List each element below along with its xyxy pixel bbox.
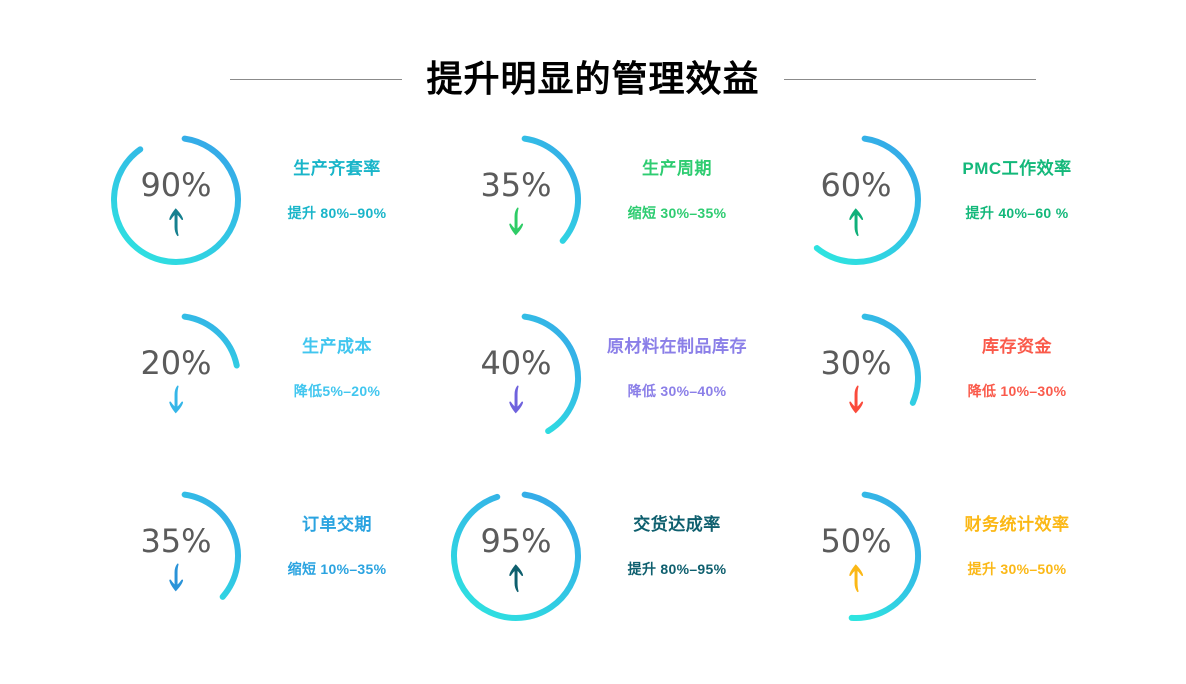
arrow-down-icon [446, 384, 586, 418]
metric-delta: 降低 10%–30% [926, 381, 1108, 401]
metric-card[interactable]: 30%库存资金降低 10%–30% [768, 298, 1108, 476]
metric-delta: 提升 80%–90% [246, 203, 428, 223]
metric-delta: 缩短 30%–35% [586, 203, 768, 223]
metric-delta: 提升 80%–95% [586, 559, 768, 579]
arrow-down-icon [106, 562, 246, 596]
gauge-ring: 90% [106, 130, 246, 270]
page-title-wrap: 提升明显的管理效益 [0, 52, 1186, 106]
gauge-value: 90% [106, 166, 246, 204]
metric-labels: 生产周期缩短 30%–35% [586, 154, 768, 223]
gauge-value: 30% [786, 344, 926, 382]
gauge-ring: 20% [106, 308, 246, 448]
arrow-up-icon [106, 206, 246, 240]
gauge-ring: 60% [786, 130, 926, 270]
metric-labels: 交货达成率提升 80%–95% [586, 510, 768, 579]
gauge-ring: 50% [786, 486, 926, 626]
arrow-down-icon [786, 384, 926, 418]
gauge-ring: 35% [106, 486, 246, 626]
metric-card[interactable]: 60%PMC工作效率提升 40%–60 % [768, 120, 1108, 298]
gauge-value: 35% [446, 166, 586, 204]
arrow-up-icon [446, 562, 586, 596]
metric-labels: 原材料在制品库存降低 30%–40% [586, 332, 768, 401]
metric-name: 订单交期 [246, 510, 428, 535]
metric-labels: 财务统计效率提升 30%–50% [926, 510, 1108, 579]
metric-name: PMC工作效率 [926, 154, 1108, 179]
gauge-ring: 95% [446, 486, 586, 626]
gauge-ring: 35% [446, 130, 586, 270]
metric-name: 生产齐套率 [246, 154, 428, 179]
gauge-value: 95% [446, 522, 586, 560]
arrow-up-icon [786, 206, 926, 240]
arrow-down-icon [106, 384, 246, 418]
page-header: 提升明显的管理效益 [0, 52, 1186, 108]
metric-name: 财务统计效率 [926, 510, 1108, 535]
metric-card[interactable]: 35%订单交期缩短 10%–35% [88, 476, 428, 654]
metric-name: 生产成本 [246, 332, 428, 357]
metric-labels: 订单交期缩短 10%–35% [246, 510, 428, 579]
metric-card[interactable]: 40%原材料在制品库存降低 30%–40% [428, 298, 768, 476]
metric-delta: 提升 30%–50% [926, 559, 1108, 579]
arrow-down-icon [446, 206, 586, 240]
metric-name: 库存资金 [926, 332, 1108, 357]
metrics-grid: 90%生产齐套率提升 80%–90%35%生产周期缩短 30%–35%60%PM… [88, 120, 1098, 660]
metric-card[interactable]: 50%财务统计效率提升 30%–50% [768, 476, 1108, 654]
page-title: 提升明显的管理效益 [426, 52, 759, 106]
metric-delta: 缩短 10%–35% [246, 559, 428, 579]
gauge-ring: 30% [786, 308, 926, 448]
metric-delta: 提升 40%–60 % [926, 203, 1108, 223]
metric-name: 交货达成率 [586, 510, 768, 535]
metric-name: 原材料在制品库存 [586, 332, 768, 357]
metric-delta: 降低 30%–40% [586, 381, 768, 401]
gauge-ring: 40% [446, 308, 586, 448]
metric-card[interactable]: 90%生产齐套率提升 80%–90% [88, 120, 428, 298]
metric-labels: PMC工作效率提升 40%–60 % [926, 154, 1108, 223]
page-title-inner: 提升明显的管理效益 [402, 52, 783, 106]
metric-card[interactable]: 95%交货达成率提升 80%–95% [428, 476, 768, 654]
metric-labels: 生产齐套率提升 80%–90% [246, 154, 428, 223]
arrow-up-icon [786, 562, 926, 596]
gauge-value: 20% [106, 344, 246, 382]
metric-labels: 生产成本降低5%–20% [246, 332, 428, 401]
metric-card[interactable]: 35%生产周期缩短 30%–35% [428, 120, 768, 298]
metric-name: 生产周期 [586, 154, 768, 179]
gauge-value: 40% [446, 344, 586, 382]
metric-delta: 降低5%–20% [246, 381, 428, 401]
metric-card[interactable]: 20%生产成本降低5%–20% [88, 298, 428, 476]
gauge-value: 35% [106, 522, 246, 560]
metric-labels: 库存资金降低 10%–30% [926, 332, 1108, 401]
gauge-value: 50% [786, 522, 926, 560]
gauge-value: 60% [786, 166, 926, 204]
